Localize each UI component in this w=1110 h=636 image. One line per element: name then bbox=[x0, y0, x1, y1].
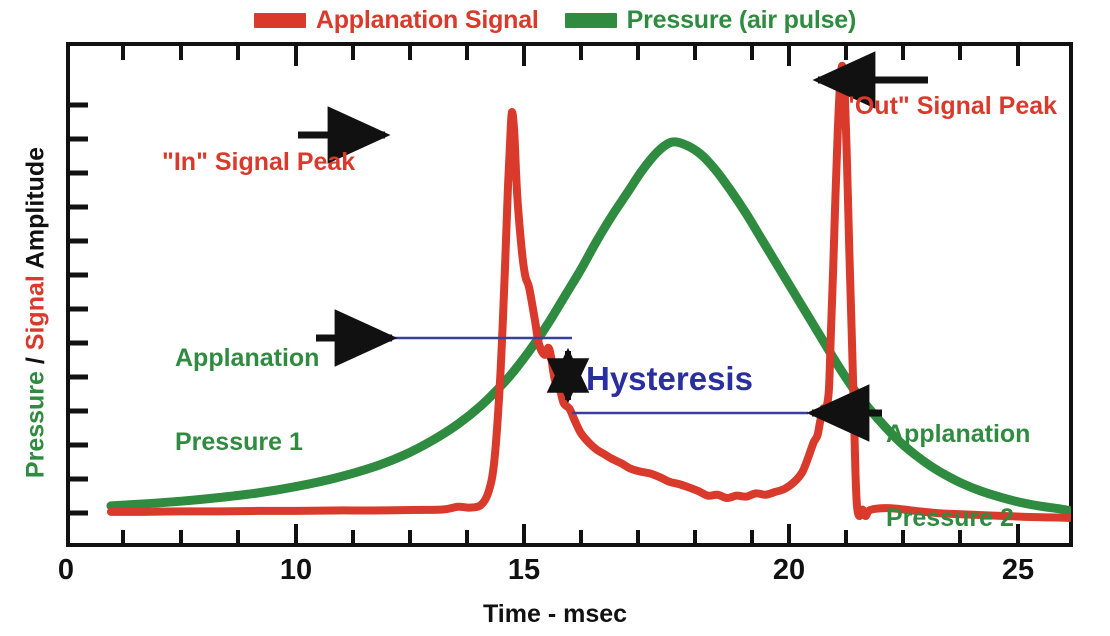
x-axis-title: Time - msec bbox=[0, 600, 1110, 629]
y-axis-title-part-amplitude: Amplitude bbox=[22, 147, 50, 275]
y-axis-title-part-slash: / bbox=[22, 350, 50, 371]
annotation-out-signal-peak: "Out" Signal Peak bbox=[843, 92, 1057, 120]
annotation-ap1-line2: Pressure 1 bbox=[175, 428, 319, 456]
annotation-hysteresis: Hysteresis bbox=[586, 361, 753, 398]
annotation-applanation-pressure-1: Applanation Pressure 1 bbox=[175, 288, 319, 512]
annotation-applanation-pressure-2: Applanation Pressure 2 bbox=[886, 364, 1030, 588]
y-axis-title-part-signal: Signal bbox=[22, 275, 50, 350]
annotation-ap1-line1: Applanation bbox=[175, 344, 319, 372]
x-tick-label-15: 15 bbox=[508, 556, 540, 585]
x-tick-label-10: 10 bbox=[280, 556, 312, 585]
y-axis-title-part-pressure: Pressure bbox=[22, 371, 50, 478]
legend-item-applanation-signal: Applanation Signal bbox=[254, 8, 539, 33]
chart-legend: Applanation Signal Pressure (air pulse) bbox=[0, 0, 1110, 40]
legend-label-pressure: Pressure (air pulse) bbox=[627, 8, 856, 33]
legend-swatch-red-icon bbox=[254, 13, 306, 28]
annotation-ap2-line1: Applanation bbox=[886, 420, 1030, 448]
x-tick-label-0: 0 bbox=[58, 556, 74, 585]
legend-swatch-green-icon bbox=[565, 13, 617, 28]
annotation-ap2-line2: Pressure 2 bbox=[886, 504, 1030, 532]
chart-page: Applanation Signal Pressure (air pulse) bbox=[0, 0, 1110, 636]
x-tick-label-20: 20 bbox=[773, 556, 805, 585]
legend-item-pressure: Pressure (air pulse) bbox=[565, 8, 856, 33]
y-axis-title: Pressure / Signal Amplitude bbox=[24, 63, 49, 563]
legend-label-applanation-signal: Applanation Signal bbox=[316, 8, 539, 33]
annotation-in-signal-peak: "In" Signal Peak bbox=[162, 148, 355, 176]
